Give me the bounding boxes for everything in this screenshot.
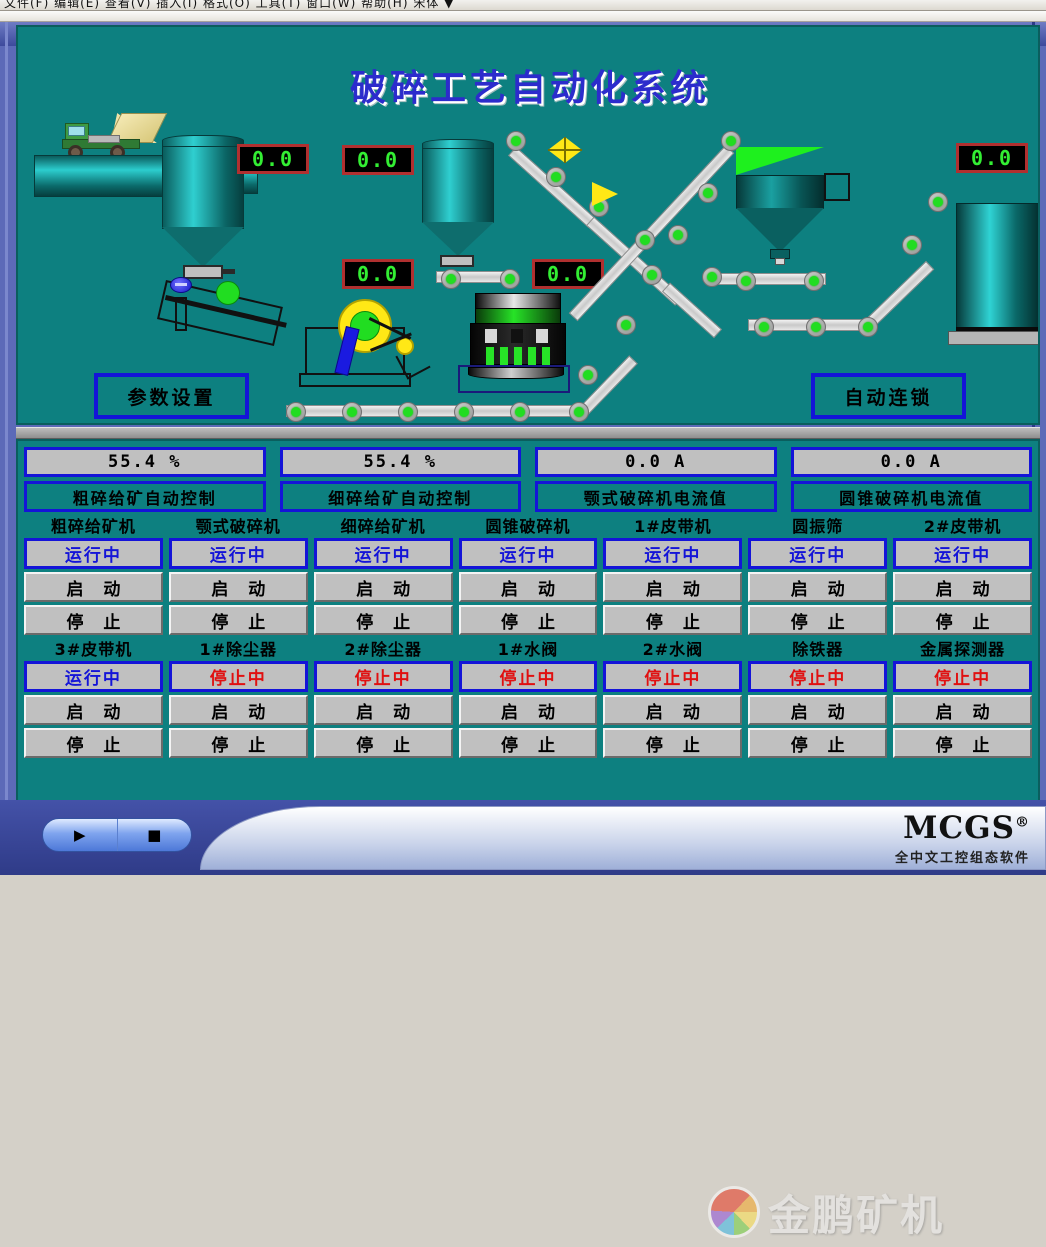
device-label: 金属探测器 xyxy=(893,639,1032,661)
device-column: 1#皮带机运行中启 动停 止 xyxy=(603,516,742,635)
process-mimic-diagram: 破碎工艺自动化系统 xyxy=(16,25,1040,425)
roller xyxy=(698,183,718,203)
device-start-button[interactable]: 启 动 xyxy=(24,572,163,602)
device-start-button[interactable]: 启 动 xyxy=(169,695,308,725)
device-column: 圆锥破碎机运行中启 动停 止 xyxy=(459,516,598,635)
device-start-button[interactable]: 启 动 xyxy=(748,695,887,725)
device-label: 圆锥破碎机 xyxy=(459,516,598,538)
roller xyxy=(902,235,922,255)
metric-label-button[interactable]: 粗碎给矿自动控制 xyxy=(24,481,266,512)
device-stop-button[interactable]: 停 止 xyxy=(24,728,163,758)
device-column: 粗碎给矿机运行中启 动停 止 xyxy=(24,516,163,635)
device-column: 除铁器停止中启 动停 止 xyxy=(748,639,887,758)
device-stop-button[interactable]: 停 止 xyxy=(893,605,1032,635)
device-stop-button[interactable]: 停 止 xyxy=(893,728,1032,758)
mcgs-brand-subtitle: 全中文工控组态软件 xyxy=(895,847,1030,866)
device-column: 1#除尘器停止中启 动停 止 xyxy=(169,639,308,758)
device-stop-button[interactable]: 停 止 xyxy=(603,605,742,635)
metric-value: 0.0 A xyxy=(791,447,1033,477)
registered-mark-icon: ® xyxy=(1015,815,1030,831)
roller xyxy=(804,271,824,291)
roller xyxy=(398,402,418,422)
device-stop-button[interactable]: 停 止 xyxy=(314,728,453,758)
auto-interlock-button[interactable]: 自动连锁 xyxy=(811,373,966,419)
device-label: 细碎给矿机 xyxy=(314,516,453,538)
device-column: 颚式破碎机运行中启 动停 止 xyxy=(169,516,308,635)
device-label: 3#皮带机 xyxy=(24,639,163,661)
device-stop-button[interactable]: 停 止 xyxy=(748,728,887,758)
device-stop-button[interactable]: 停 止 xyxy=(24,605,163,635)
runtime-control-pill: ▶ ■ xyxy=(42,818,192,852)
device-label: 除铁器 xyxy=(748,639,887,661)
device-status-badge: 停止中 xyxy=(459,661,598,692)
roller xyxy=(454,402,474,422)
metric-label-button[interactable]: 细碎给矿自动控制 xyxy=(280,481,522,512)
device-status-badge: 运行中 xyxy=(314,538,453,569)
roller xyxy=(441,269,461,289)
device-start-button[interactable]: 启 动 xyxy=(169,572,308,602)
device-status-badge: 运行中 xyxy=(24,538,163,569)
device-label: 粗碎给矿机 xyxy=(24,516,163,538)
device-status-badge: 停止中 xyxy=(748,661,887,692)
roller xyxy=(928,192,948,212)
metric-value: 55.4 % xyxy=(280,447,522,477)
metric-coarse-feed-auto: 55.4 % 粗碎给矿自动控制 xyxy=(24,447,266,512)
device-stop-button[interactable]: 停 止 xyxy=(169,605,308,635)
device-column: 2#皮带机运行中启 动停 止 xyxy=(893,516,1032,635)
roller xyxy=(806,317,826,337)
roller xyxy=(500,269,520,289)
window-frame: 破碎工艺自动化系统 xyxy=(5,22,1035,875)
device-row-1: 粗碎给矿机运行中启 动停 止颚式破碎机运行中启 动停 止细碎给矿机运行中启 动停… xyxy=(18,512,1038,635)
device-start-button[interactable]: 启 动 xyxy=(459,572,598,602)
metric-jaw-crusher-current: 0.0 A 颚式破碎机电流值 xyxy=(535,447,777,512)
vendor-watermark-text: 金鹏矿机 xyxy=(768,1182,944,1243)
device-column: 2#除尘器停止中启 动停 止 xyxy=(314,639,453,758)
device-column: 金属探测器停止中启 动停 止 xyxy=(893,639,1032,758)
device-label: 1#水阀 xyxy=(459,639,598,661)
device-status-badge: 运行中 xyxy=(459,538,598,569)
roller xyxy=(546,167,566,187)
device-column: 2#水阀停止中启 动停 止 xyxy=(603,639,742,758)
metric-label-button[interactable]: 圆锥破碎机电流值 xyxy=(791,481,1033,512)
host-app-toolbar: 文件(F) 编辑(E) 查看(V) 插入(I) 格式(O) 工具(T) 窗口(W… xyxy=(0,0,1046,11)
device-row-2: 3#皮带机运行中启 动停 止1#除尘器停止中启 动停 止2#除尘器停止中启 动停… xyxy=(18,635,1038,758)
device-start-button[interactable]: 启 动 xyxy=(24,695,163,725)
device-stop-button[interactable]: 停 止 xyxy=(169,728,308,758)
device-label: 圆振筛 xyxy=(748,516,887,538)
device-start-button[interactable]: 启 动 xyxy=(314,695,453,725)
device-label: 颚式破碎机 xyxy=(169,516,308,538)
device-start-button[interactable]: 启 动 xyxy=(314,572,453,602)
roller xyxy=(702,267,722,287)
param-settings-button[interactable]: 参数设置 xyxy=(94,373,249,419)
roller xyxy=(668,225,688,245)
metric-value: 55.4 % xyxy=(24,447,266,477)
roller xyxy=(569,402,589,422)
host-toolbar-text: 文件(F) 编辑(E) 查看(V) 插入(I) 格式(O) 工具(T) 窗口(W… xyxy=(4,0,454,11)
value-display-jaw-feed: 0.0 xyxy=(342,145,414,175)
device-label: 2#皮带机 xyxy=(893,516,1032,538)
roller xyxy=(286,402,306,422)
device-status-badge: 运行中 xyxy=(893,538,1032,569)
metrics-row: 55.4 % 粗碎给矿自动控制 55.4 % 细碎给矿自动控制 0.0 A 颚式… xyxy=(18,441,1038,512)
host-app-toolbar-second-row xyxy=(0,11,1046,22)
roller xyxy=(616,315,636,335)
device-stop-button[interactable]: 停 止 xyxy=(459,605,598,635)
stop-icon[interactable]: ■ xyxy=(118,819,192,851)
value-display-fine-bin: 0.0 xyxy=(342,259,414,289)
device-start-button[interactable]: 启 动 xyxy=(459,695,598,725)
panel-divider xyxy=(16,427,1040,439)
value-display-product-bin: 0.0 xyxy=(956,143,1028,173)
device-start-button[interactable]: 启 动 xyxy=(748,572,887,602)
play-icon[interactable]: ▶ xyxy=(43,819,118,851)
device-start-button[interactable]: 启 动 xyxy=(893,572,1032,602)
bottom-bar: ▶ ■ MCGS® 全中文工控组态软件 xyxy=(0,800,1046,875)
roller xyxy=(635,230,655,250)
device-status-badge: 运行中 xyxy=(603,538,742,569)
roller xyxy=(342,402,362,422)
roller xyxy=(506,131,526,151)
roller xyxy=(578,365,598,385)
metric-cone-crusher-current: 0.0 A 圆锥破碎机电流值 xyxy=(791,447,1033,512)
device-column: 细碎给矿机运行中启 动停 止 xyxy=(314,516,453,635)
device-stop-button[interactable]: 停 止 xyxy=(748,605,887,635)
device-status-badge: 停止中 xyxy=(169,661,308,692)
page-title: 破碎工艺自动化系统 xyxy=(18,59,1040,111)
device-start-button[interactable]: 启 动 xyxy=(603,572,742,602)
roller xyxy=(721,131,741,151)
device-column: 1#水阀停止中启 动停 止 xyxy=(459,639,598,758)
value-display-belt: 0.0 xyxy=(532,259,604,289)
device-label: 1#除尘器 xyxy=(169,639,308,661)
device-label: 1#皮带机 xyxy=(603,516,742,538)
device-column: 圆振筛运行中启 动停 止 xyxy=(748,516,887,635)
flow-triangle-marker xyxy=(592,182,618,206)
device-stop-button[interactable]: 停 止 xyxy=(459,728,598,758)
mcgs-runtime-window: ✕ 破碎工艺自动化系统 xyxy=(0,22,1046,875)
mcgs-brand: MCGS® 全中文工控组态软件 xyxy=(895,810,1030,866)
metric-label-button[interactable]: 颚式破碎机电流值 xyxy=(535,481,777,512)
roller xyxy=(736,271,756,291)
device-label: 2#除尘器 xyxy=(314,639,453,661)
device-column: 3#皮带机运行中启 动停 止 xyxy=(24,639,163,758)
device-status-badge: 运行中 xyxy=(169,538,308,569)
vendor-watermark: 金鹏矿机 xyxy=(708,1177,1038,1247)
mcgs-brand-name: MCGS® xyxy=(895,810,1030,846)
device-stop-button[interactable]: 停 止 xyxy=(314,605,453,635)
device-label: 2#水阀 xyxy=(603,639,742,661)
device-status-badge: 停止中 xyxy=(314,661,453,692)
roller xyxy=(642,265,662,285)
device-status-badge: 运行中 xyxy=(24,661,163,692)
metric-value: 0.0 A xyxy=(535,447,777,477)
roller xyxy=(858,317,878,337)
roller xyxy=(754,317,774,337)
roller xyxy=(510,402,530,422)
device-start-button[interactable]: 启 动 xyxy=(893,695,1032,725)
vendor-logo-icon xyxy=(708,1186,760,1238)
device-stop-button[interactable]: 停 止 xyxy=(603,728,742,758)
mcgs-wordmark: MCGS xyxy=(903,810,1015,846)
device-status-badge: 停止中 xyxy=(893,661,1032,692)
device-status-badge: 运行中 xyxy=(748,538,887,569)
metric-fine-feed-auto: 55.4 % 细碎给矿自动控制 xyxy=(280,447,522,512)
flow-diamond-cross-h xyxy=(548,149,582,151)
device-status-badge: 停止中 xyxy=(603,661,742,692)
device-start-button[interactable]: 启 动 xyxy=(603,695,742,725)
value-display-coarse-bin: 0.0 xyxy=(237,144,309,174)
control-panel: 55.4 % 粗碎给矿自动控制 55.4 % 细碎给矿自动控制 0.0 A 颚式… xyxy=(16,439,1040,822)
